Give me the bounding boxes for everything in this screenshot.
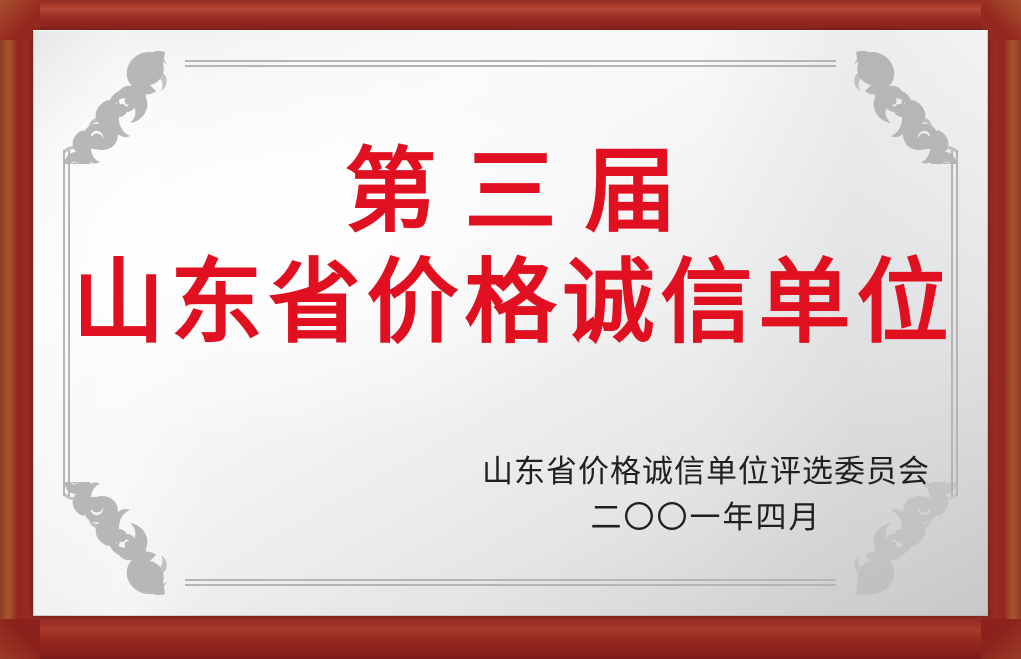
corner-flourish-icon-bottom-left xyxy=(47,482,175,602)
issuing-organization: 山东省价格诚信单位评选委员会 xyxy=(482,453,930,492)
border-rule-bottom xyxy=(185,579,836,586)
frame-rail-left xyxy=(0,0,34,659)
frame-rail-right xyxy=(987,0,1021,659)
award-title-line-1: 第三届 xyxy=(33,142,988,241)
border-rule-top xyxy=(185,60,836,67)
issue-date: 二〇〇一年四月 xyxy=(482,499,930,538)
award-plaque: 第三届 山东省价格诚信单位 山东省价格诚信单位评选委员会 二〇〇一年四月 xyxy=(0,0,1021,659)
frame-rail-top xyxy=(0,0,1021,31)
award-title-line-2: 山东省价格诚信单位 xyxy=(33,253,988,352)
signature-block: 山东省价格诚信单位评选委员会 二〇〇一年四月 xyxy=(482,453,930,539)
frame-rail-bottom xyxy=(0,615,1021,659)
plaque-panel: 第三届 山东省价格诚信单位 山东省价格诚信单位评选委员会 二〇〇一年四月 xyxy=(33,30,988,616)
award-title-block: 第三届 山东省价格诚信单位 xyxy=(33,142,988,353)
